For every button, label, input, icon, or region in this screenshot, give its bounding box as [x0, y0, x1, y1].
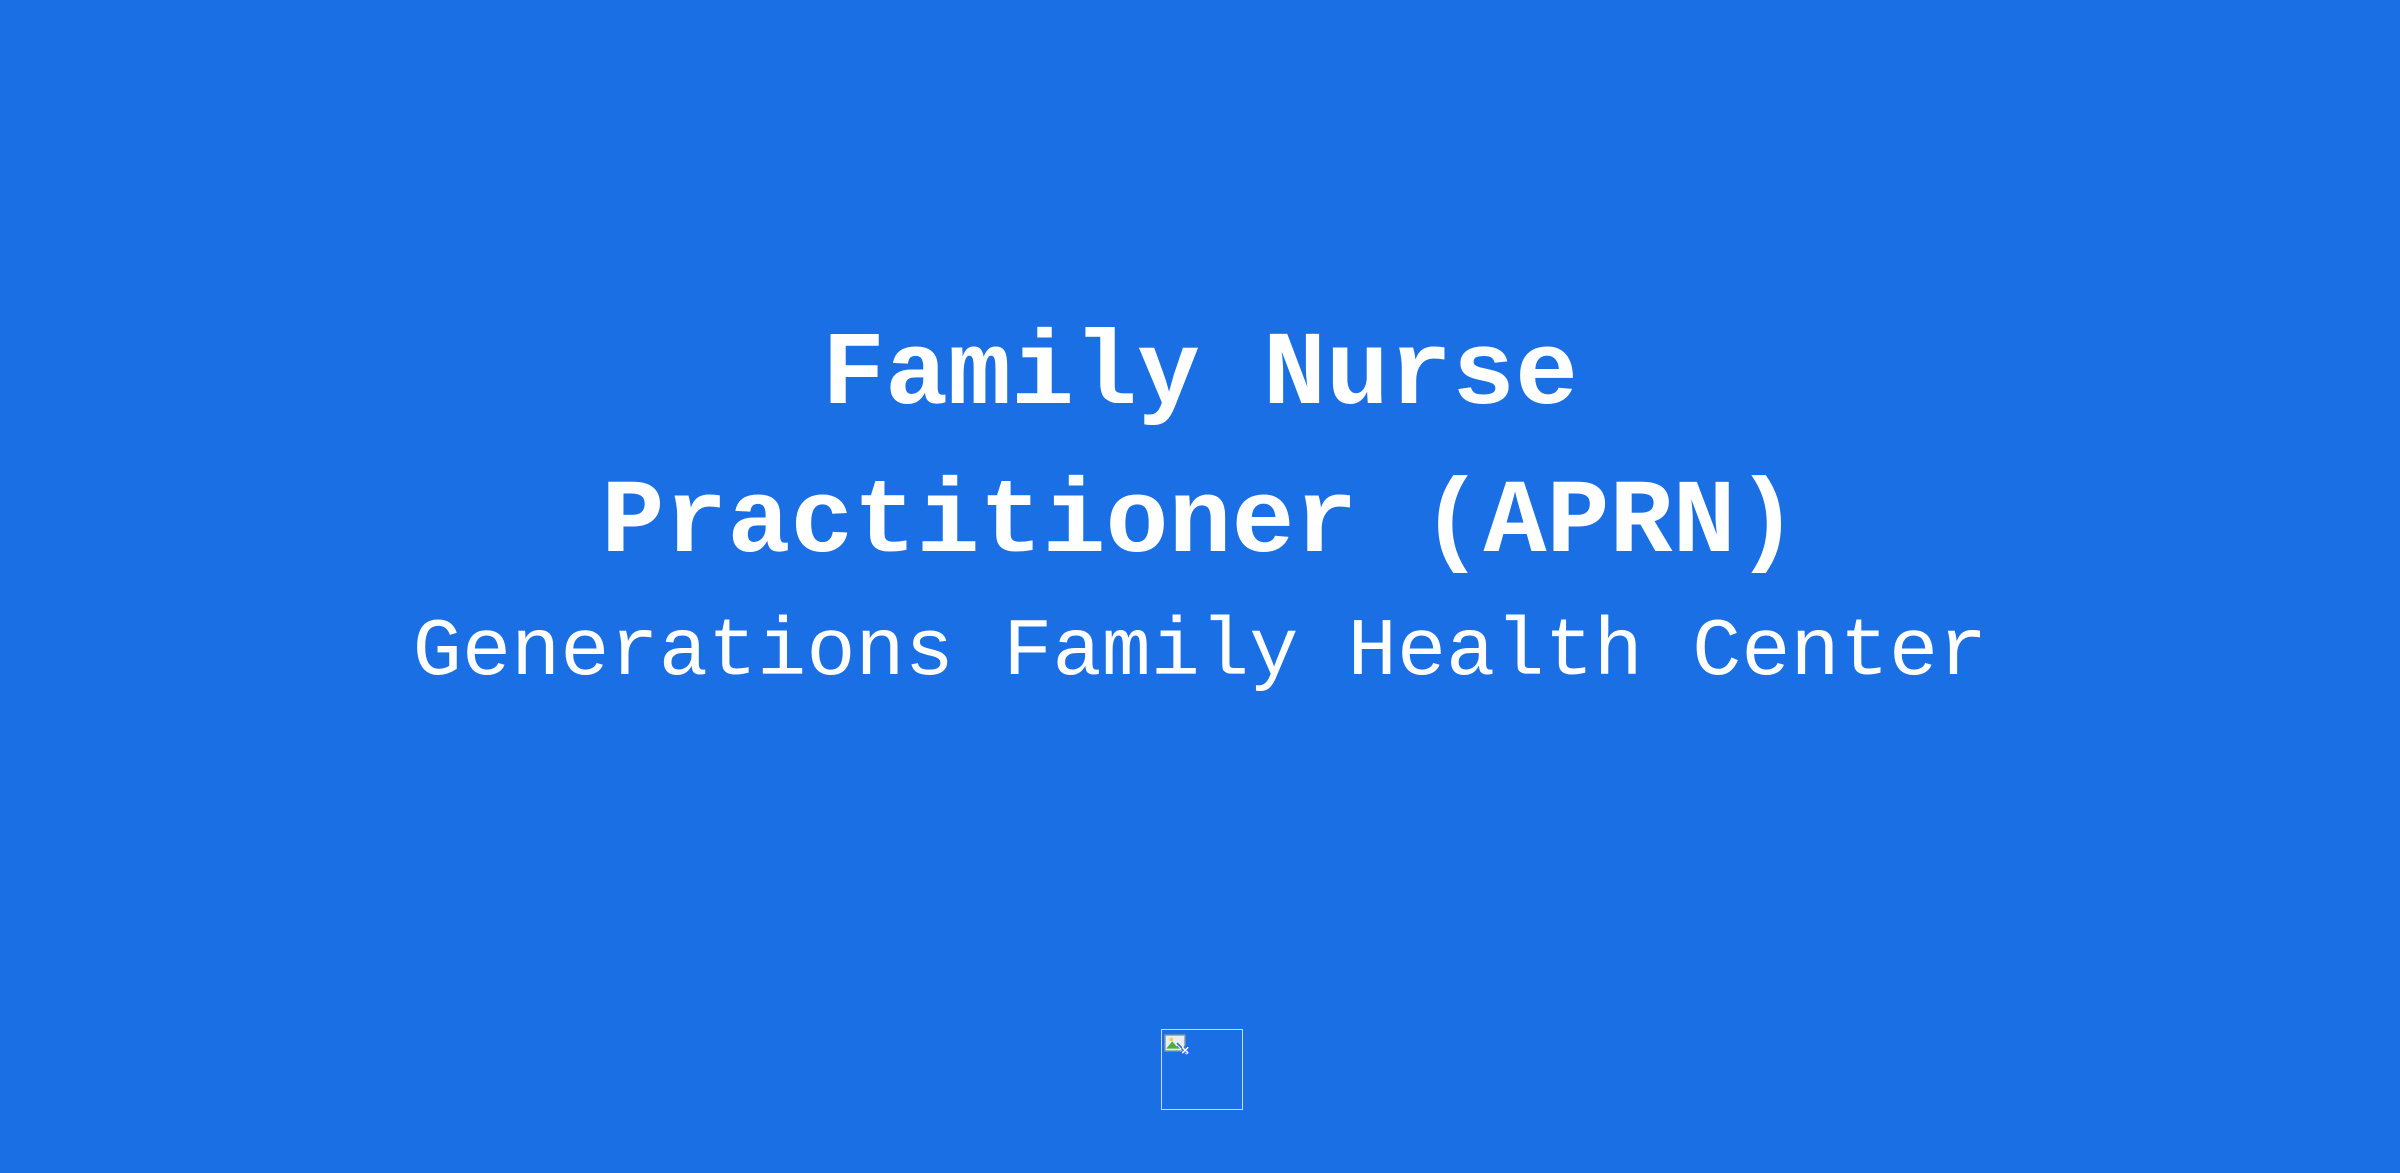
slide-content: Family Nurse Practitioner (APRN) Generat… — [0, 0, 2400, 1173]
broken-image-icon — [1163, 1031, 1191, 1059]
slide-title: Family Nurse Practitioner (APRN) — [0, 302, 2400, 598]
image-placeholder[interactable] — [1161, 1029, 1243, 1110]
presentation-slide: Family Nurse Practitioner (APRN) Generat… — [0, 0, 2400, 1173]
title-block: Family Nurse Practitioner (APRN) Generat… — [0, 302, 2400, 708]
slide-subtitle: Generations Family Health Center — [0, 598, 2400, 708]
